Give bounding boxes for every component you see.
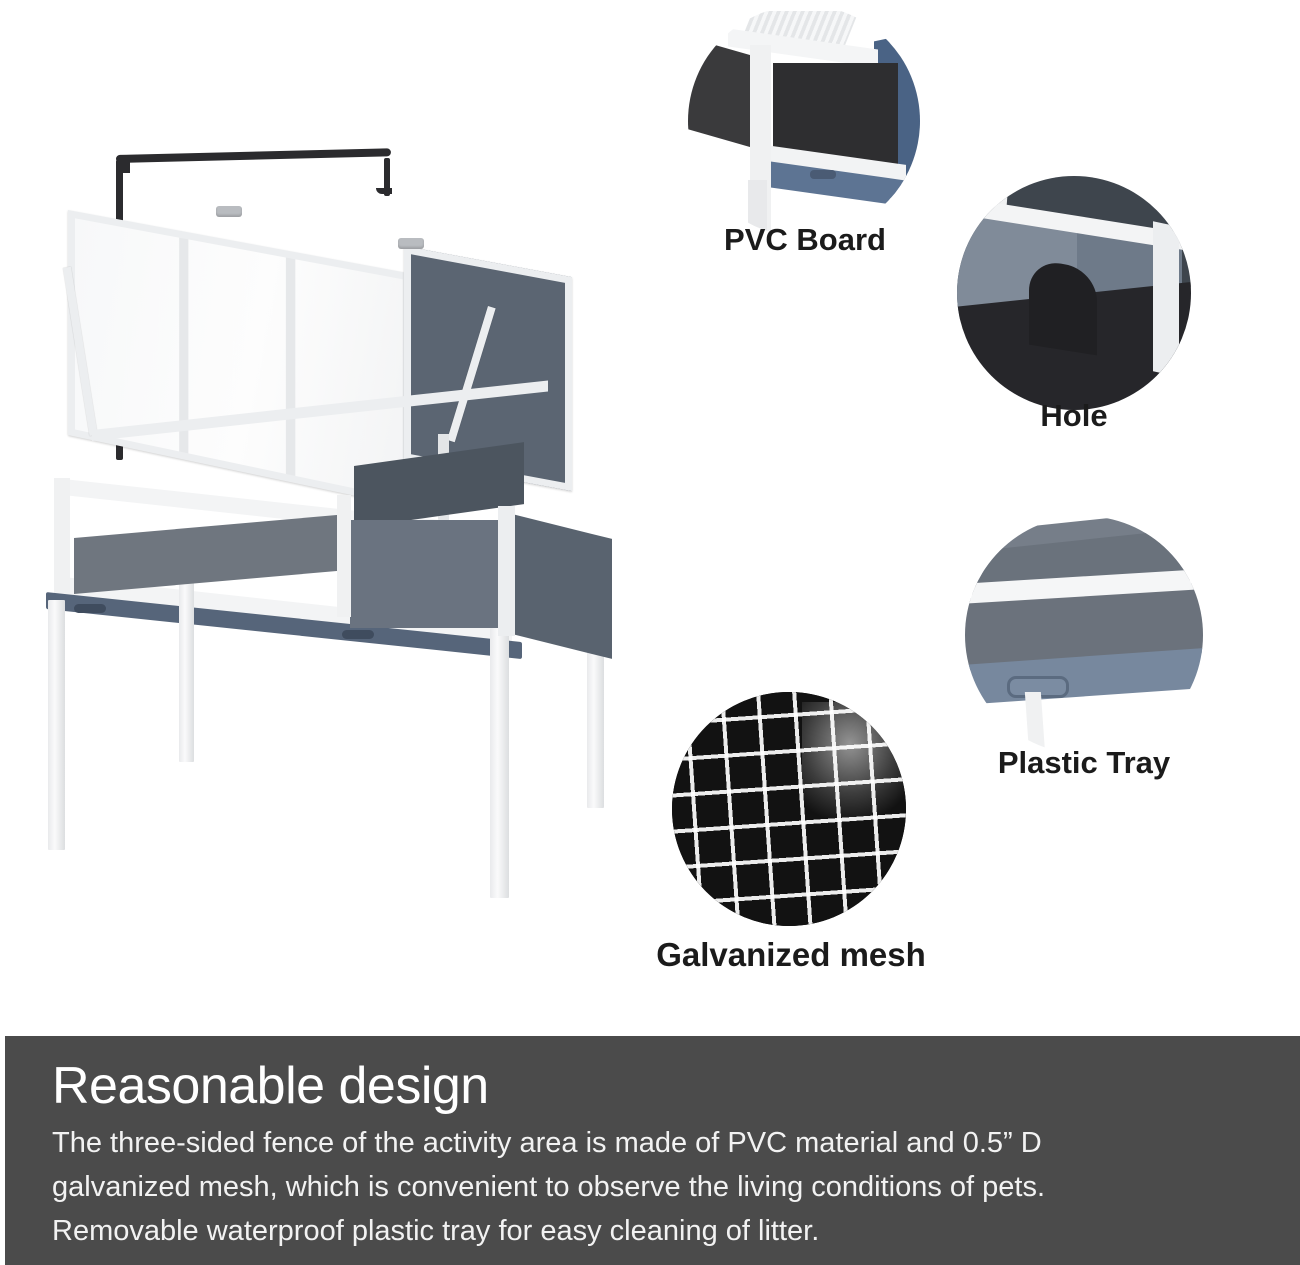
- hanging-arm-hook-tip-icon: [376, 188, 392, 194]
- main-product-image: [40, 130, 660, 930]
- callout-label-plastic-tray: Plastic Tray: [960, 745, 1208, 781]
- pvc-tray-handle-icon: [810, 170, 836, 179]
- galvanized-mesh-grid: [672, 692, 906, 926]
- callout-circle-hole: [957, 176, 1191, 410]
- callout-circle-pvc-board: [688, 5, 920, 237]
- pvc-side-dark-panel: [688, 37, 756, 148]
- reasonable-design-banner: Reasonable design The three-sided fence …: [5, 1036, 1300, 1265]
- leg-front-right: [490, 628, 509, 898]
- hanging-arm-beam-icon: [116, 148, 391, 163]
- right-side-gray-panel: [512, 514, 612, 659]
- banner-body-line: Removable waterproof plastic tray for ea…: [52, 1209, 1242, 1253]
- leg-front-left: [48, 600, 65, 850]
- front-right-post: [498, 506, 515, 636]
- tray-handle-icon: [342, 630, 374, 639]
- callout-label-galvanized-mesh: Galvanized mesh: [636, 936, 946, 974]
- product-photo-area: PVC Board Hole Plastic Tray Galvanized m…: [0, 0, 1300, 1032]
- callout-circle-galvanized-mesh: [672, 692, 906, 926]
- hole-white-right-edge: [1153, 221, 1179, 377]
- front-left-post: [54, 478, 70, 600]
- callout-circle-plastic-tray: [965, 516, 1203, 754]
- callout-label-pvc-board: PVC Board: [690, 222, 920, 258]
- hanging-arm-corner-icon: [116, 155, 130, 173]
- interior-floor: [74, 514, 344, 594]
- tray-handle-icon: [74, 604, 106, 613]
- lid-hinge-icon: [216, 206, 242, 217]
- banner-heading: Reasonable design: [52, 1060, 489, 1112]
- lid-hinge-icon: [398, 238, 424, 249]
- banner-body-line: The three-sided fence of the activity ar…: [52, 1121, 1242, 1165]
- front-right-gray-panel: [350, 520, 500, 628]
- leg-rear-left: [179, 582, 194, 762]
- banner-body-line: galvanized mesh, which is convenient to …: [52, 1165, 1242, 1209]
- front-middle-post: [337, 495, 351, 617]
- banner-body-text: The three-sided fence of the activity ar…: [52, 1121, 1242, 1253]
- callout-label-hole: Hole: [957, 398, 1191, 434]
